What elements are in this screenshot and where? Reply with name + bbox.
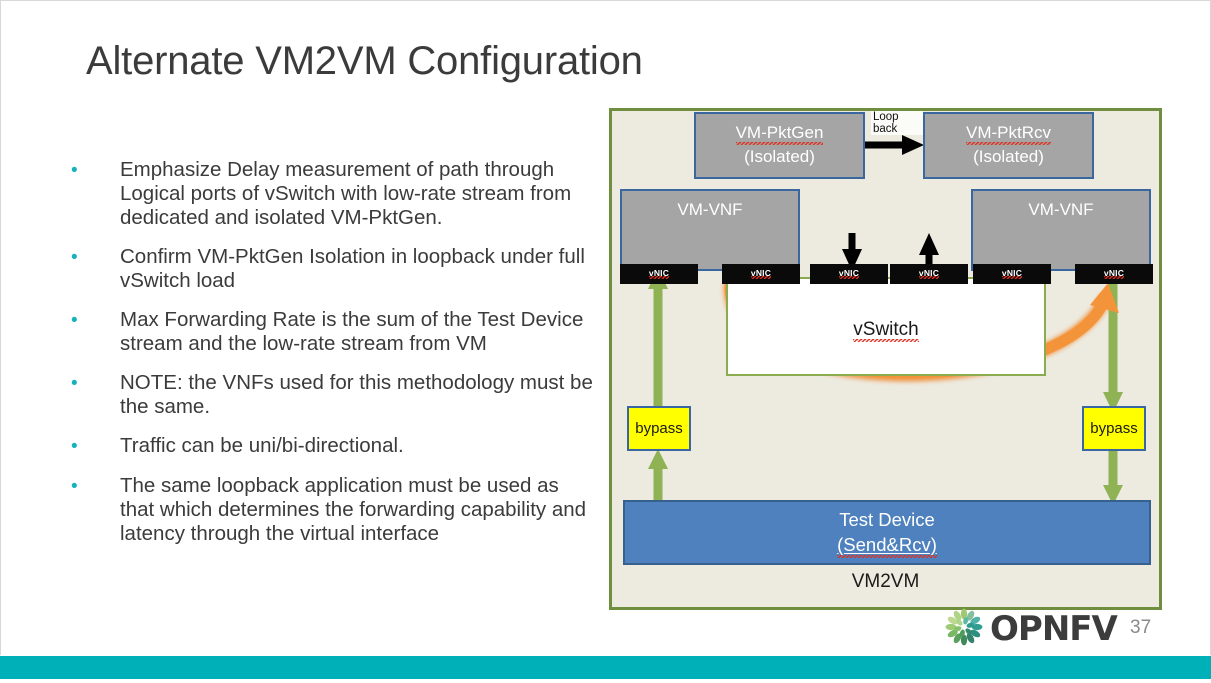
vm-vnf-right-box: VM-VNF	[971, 189, 1151, 271]
bullet-marker-icon: •	[66, 371, 120, 396]
test-device-line2: (Send&Rcv)	[837, 532, 937, 559]
slide-border-left	[0, 0, 1, 655]
bullet-marker-icon: •	[66, 308, 120, 333]
bypass-left-box: bypass	[627, 406, 691, 451]
vswitch-label: vSwitch	[728, 319, 1044, 343]
vm-pktgen-box: VM-PktGen (Isolated)	[694, 112, 865, 179]
bullet-text: Traffic can be uni/bi-directional.	[120, 434, 596, 458]
vm-pktgen-line1: VM-PktGen	[736, 122, 824, 146]
vnic-6: vNIC	[1075, 264, 1153, 284]
opnfv-logo: OPNFV	[940, 606, 1110, 650]
green-arrow-left-up-solid	[648, 268, 668, 411]
bullet-text: The same loopback application must be us…	[120, 474, 596, 546]
bullet-text: Confirm VM-PktGen Isolation in loopback …	[120, 245, 596, 293]
bullet-marker-icon: •	[66, 245, 120, 270]
vnic-4: vNIC	[890, 264, 968, 284]
vm-vnf-left-label: VM-VNF	[677, 199, 742, 221]
vnic-3: vNIC	[810, 264, 888, 284]
list-item: • Traffic can be uni/bi-directional.	[66, 434, 596, 459]
bullet-text: NOTE: the VNFs used for this methodology…	[120, 371, 596, 419]
slide-canvas: Alternate VM2VM Configuration • Emphasiz…	[0, 0, 1211, 683]
page-title: Alternate VM2VM Configuration	[86, 36, 643, 86]
slide-border-top	[0, 0, 1211, 1]
opnfv-petals-icon	[940, 606, 988, 648]
vswitch-box: vSwitch	[726, 277, 1046, 376]
list-item: • The same loopback application must be …	[66, 474, 596, 546]
green-arrow-left-lower-up	[648, 449, 668, 503]
test-device-line1: Test Device	[839, 507, 935, 532]
list-item: • Max Forwarding Rate is the sum of the …	[66, 308, 596, 356]
vm-vnf-left-box: VM-VNF	[620, 189, 800, 271]
vnic-1: vNIC	[620, 264, 698, 284]
green-arrow-right-lower-down	[1103, 451, 1123, 505]
page-number: 37	[1130, 617, 1151, 639]
vm-pktrcv-line2: (Isolated)	[973, 146, 1044, 168]
vm2vm-diagram: vSwitch VM-PktGen (Isolated) Loop back V…	[609, 108, 1162, 610]
bottom-accent-bar	[0, 656, 1211, 679]
vm-pktgen-line2: (Isolated)	[744, 146, 815, 168]
list-item: • Emphasize Delay measurement of path th…	[66, 158, 596, 230]
bullet-text: Emphasize Delay measurement of path thro…	[120, 158, 596, 230]
bullet-marker-icon: •	[66, 474, 120, 499]
test-device-box: Test Device (Send&Rcv)	[623, 500, 1151, 565]
bypass-right-box: bypass	[1082, 406, 1146, 451]
vm-pktrcv-box: VM-PktRcv (Isolated)	[923, 112, 1094, 179]
vnic-2: vNIC	[722, 264, 800, 284]
list-item: • Confirm VM-PktGen Isolation in loopbac…	[66, 245, 596, 293]
vm-vnf-right-label: VM-VNF	[1028, 199, 1093, 221]
vm2vm-label: VM2VM	[612, 571, 1159, 593]
bullet-marker-icon: •	[66, 158, 120, 183]
bullet-list: • Emphasize Delay measurement of path th…	[66, 158, 596, 561]
bullet-text: Max Forwarding Rate is the sum of the Te…	[120, 308, 596, 356]
list-item: • NOTE: the VNFs used for this methodolo…	[66, 371, 596, 419]
vm-pktrcv-line1: VM-PktRcv	[966, 122, 1051, 146]
opnfv-wordmark: OPNFV	[990, 609, 1117, 649]
loopback-label: Loop back	[871, 111, 923, 135]
vnic-5: vNIC	[973, 264, 1051, 284]
bullet-marker-icon: •	[66, 434, 120, 459]
